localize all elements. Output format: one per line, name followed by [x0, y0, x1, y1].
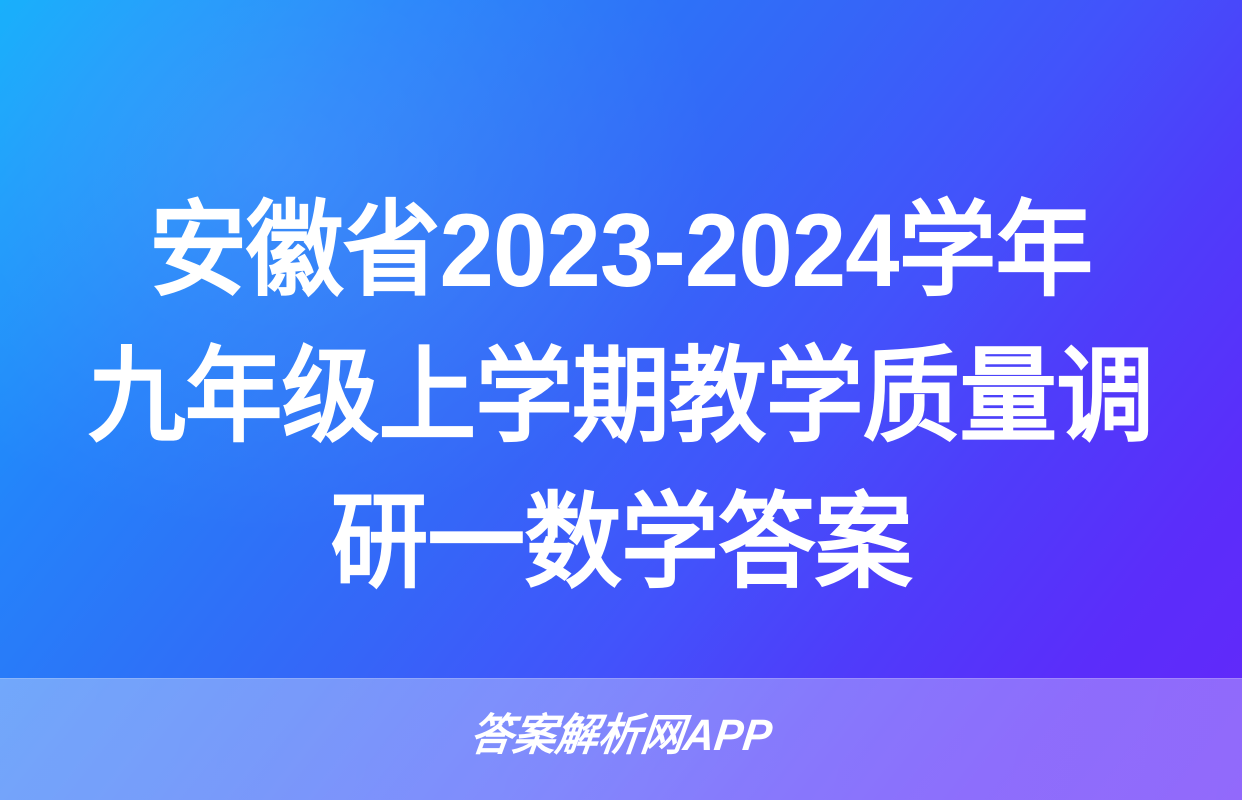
title-line-1: 安徽省2023-2024学年	[149, 178, 1092, 324]
title-line-3: 研一数学答案	[331, 470, 912, 616]
poster-card: 安徽省2023-2024学年 九年级上学期教学质量调 研一数学答案 答案解析网A…	[0, 0, 1242, 800]
title-line-2: 九年级上学期教学质量调	[88, 324, 1153, 470]
footer-band: 答案解析网APP	[0, 678, 1242, 800]
poster-title: 安徽省2023-2024学年 九年级上学期教学质量调 研一数学答案	[0, 178, 1242, 616]
app-watermark: 答案解析网APP	[15, 708, 1227, 764]
footer-divider	[0, 678, 1242, 679]
